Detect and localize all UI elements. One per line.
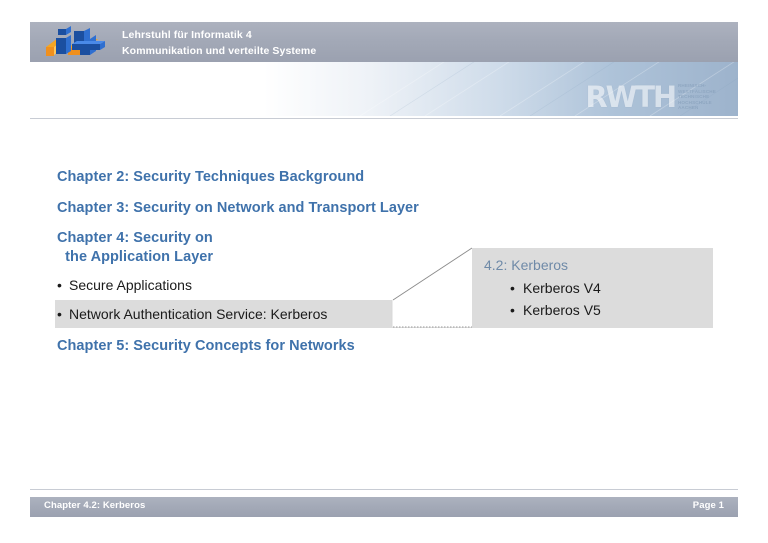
callout-item-label: Kerberos V4 (523, 280, 601, 296)
footer-bar: Chapter 4.2: Kerberos Page 1 (30, 497, 738, 517)
kerberos-callout-box: 4.2: Kerberos •Kerberos V4 •Kerberos V5 (472, 248, 713, 328)
footer-page-number: Page 1 (693, 500, 724, 511)
callout-item-label: Kerberos V5 (523, 302, 601, 318)
chapter-heading-2: Chapter 2: Security Techniques Backgroun… (57, 168, 364, 187)
slide-content: Chapter 2: Security Techniques Backgroun… (0, 0, 768, 543)
footer-chapter-label: Chapter 4.2: Kerberos (44, 500, 145, 511)
slide-canvas: Lehrstuhl für Informatik 4 Kommunikation… (0, 0, 768, 543)
callout-item-kerberos-v5[interactable]: •Kerberos V5 (510, 301, 601, 320)
callout-item-kerberos-v4[interactable]: •Kerberos V4 (510, 279, 601, 298)
bullet-marker: • (57, 304, 69, 324)
bullet-label: Secure Applications (69, 277, 192, 293)
bullet-marker: • (510, 279, 523, 298)
callout-title: 4.2: Kerberos (484, 256, 568, 274)
bullet-secure-applications[interactable]: •Secure Applications (57, 275, 192, 295)
bullet-network-authentication-service-kerberos[interactable]: •Network Authentication Service: Kerbero… (57, 304, 327, 324)
chapter-heading-4: Chapter 4: Security on the Application L… (57, 229, 213, 267)
highlight-notch (392, 300, 472, 327)
bullet-label: Network Authentication Service: Kerberos (69, 306, 327, 322)
bullet-marker: • (57, 275, 69, 295)
footer-divider (30, 489, 738, 490)
chapter-heading-3: Chapter 3: Security on Network and Trans… (57, 199, 419, 218)
bullet-marker: • (510, 301, 523, 320)
chapter-heading-5: Chapter 5: Security Concepts for Network… (57, 337, 355, 356)
